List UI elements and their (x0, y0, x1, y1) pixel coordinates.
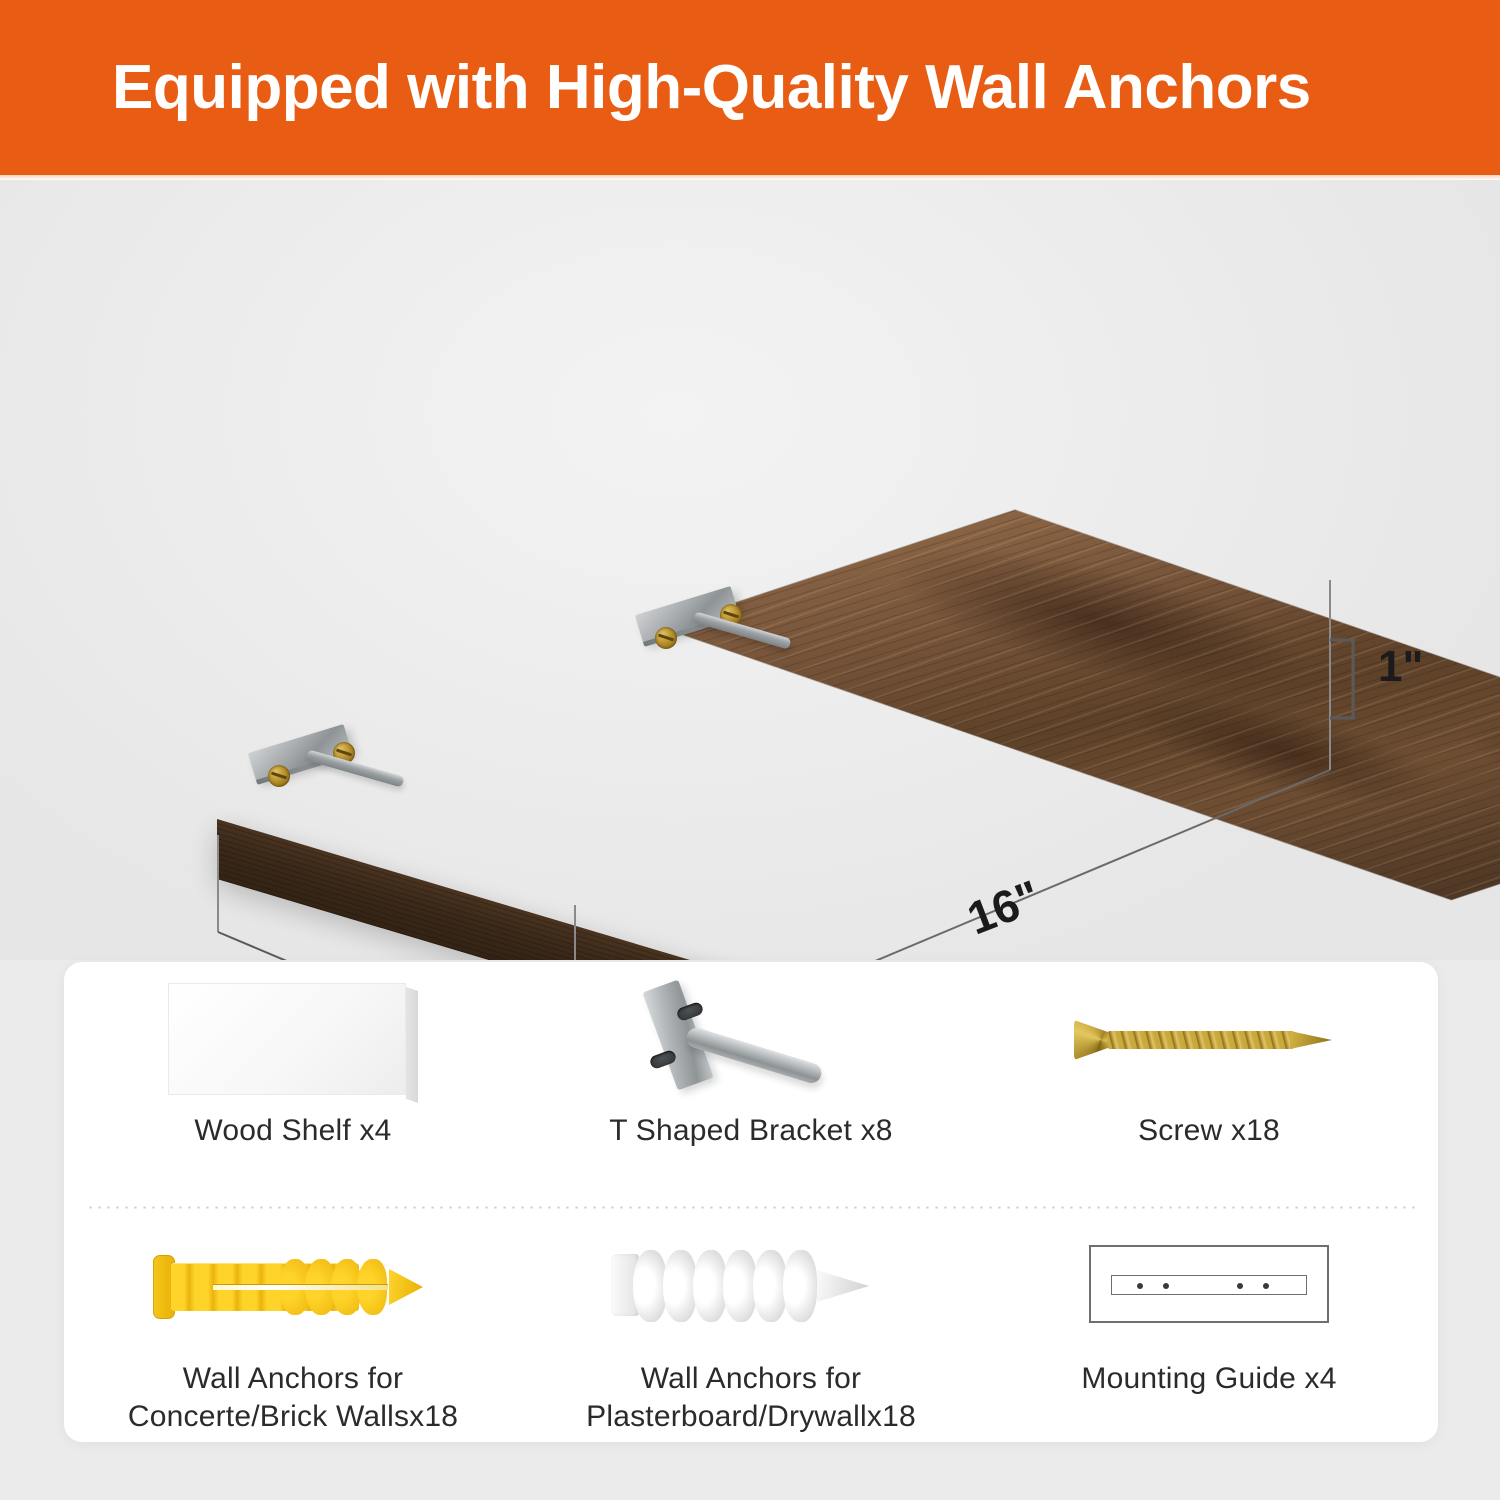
dimension-lines (0, 180, 1500, 960)
drywall-anchor-icon (522, 1224, 980, 1350)
part-item-screw: Screw x18 (980, 976, 1438, 1194)
dimension-label-thickness: 1" (1378, 642, 1423, 692)
concrete-anchor-icon (64, 1224, 522, 1350)
part-label: Wall Anchors forConcerte/Brick Wallsx18 (128, 1360, 458, 1436)
product-hero-image: 16" 6.7" 1" (0, 180, 1500, 960)
part-label: Wood Shelf x4 (194, 1112, 391, 1150)
part-item-mounting-guide: Mounting Guide x4 (980, 1224, 1438, 1442)
parts-divider (86, 1206, 1416, 1209)
parts-list-panel: Wood Shelf x4 T Shaped Bracket x8 Screw … (64, 962, 1438, 1442)
parts-row-bottom: Wall Anchors forConcerte/Brick Wallsx18 … (64, 1224, 1438, 1442)
screw-icon (980, 976, 1438, 1102)
t-bracket-icon (522, 976, 980, 1102)
parts-row-top: Wood Shelf x4 T Shaped Bracket x8 Screw … (64, 976, 1438, 1194)
part-label: T Shaped Bracket x8 (609, 1112, 892, 1150)
part-item-t-bracket: T Shaped Bracket x8 (522, 976, 980, 1194)
wood-shelf-icon (64, 976, 522, 1102)
part-label: Wall Anchors forPlasterboard/Drywallx18 (586, 1360, 916, 1436)
part-item-drywall-anchor: Wall Anchors forPlasterboard/Drywallx18 (522, 1224, 980, 1442)
mounting-guide-icon (980, 1224, 1438, 1350)
part-label: Screw x18 (1138, 1112, 1280, 1150)
part-item-wood-shelf: Wood Shelf x4 (64, 976, 522, 1194)
part-label: Mounting Guide x4 (1081, 1360, 1336, 1398)
part-item-concrete-anchor: Wall Anchors forConcerte/Brick Wallsx18 (64, 1224, 522, 1442)
header-banner: Equipped with High-Quality Wall Anchors (0, 0, 1500, 175)
banner-title: Equipped with High-Quality Wall Anchors (0, 57, 1311, 119)
